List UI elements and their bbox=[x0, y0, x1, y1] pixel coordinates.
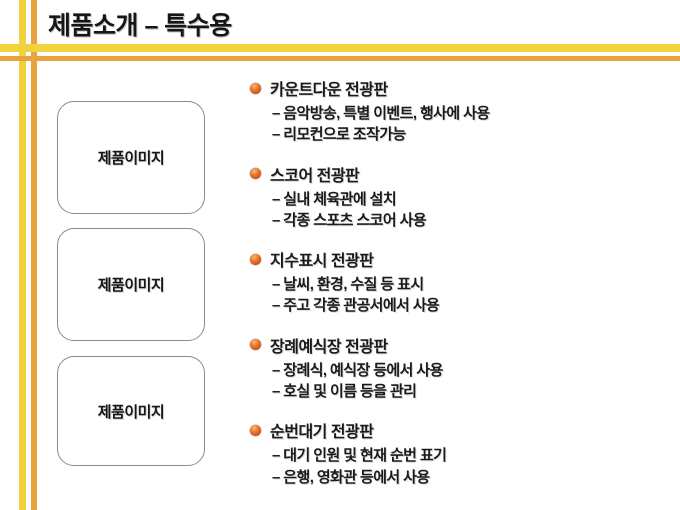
sphere-bullet-icon bbox=[250, 168, 261, 179]
feature-detail: – 리모컨으로 조작가능 bbox=[272, 124, 670, 145]
feature-heading-row: 지수표시 전광판 bbox=[250, 247, 670, 271]
feature-heading: 장례예식장 전광판 bbox=[270, 333, 388, 357]
page-title: 제품소개 – 특수용 bbox=[48, 6, 232, 42]
feature-heading-row: 순번대기 전광판 bbox=[250, 418, 670, 442]
left-vertical-rule-yellow bbox=[19, 0, 26, 510]
feature-detail: – 음악방송, 특별 이벤트, 행사에 사용 bbox=[272, 103, 670, 124]
sphere-bullet-icon bbox=[250, 83, 261, 94]
feature-group: 지수표시 전광판 – 날씨, 환경, 수질 등 표시 – 주고 각종 관공서에서… bbox=[250, 247, 670, 317]
feature-detail: – 날씨, 환경, 수질 등 표시 bbox=[272, 274, 670, 295]
feature-heading: 지수표시 전광판 bbox=[270, 247, 374, 271]
sphere-bullet-icon bbox=[250, 339, 261, 350]
header-horizontal-rule-orange bbox=[0, 56, 680, 61]
sphere-bullet-icon bbox=[250, 425, 261, 436]
sphere-bullet-icon bbox=[250, 254, 261, 265]
feature-detail: – 각종 스포츠 스코어 사용 bbox=[272, 210, 670, 231]
feature-heading: 순번대기 전광판 bbox=[270, 418, 374, 442]
feature-detail: – 대기 인원 및 현재 순번 표기 bbox=[272, 445, 670, 466]
feature-heading-row: 스코어 전광판 bbox=[250, 162, 670, 186]
product-image-placeholder-1: 제품이미지 bbox=[57, 101, 205, 214]
feature-detail: – 실내 체육관에 설치 bbox=[272, 189, 670, 210]
product-image-placeholder-3: 제품이미지 bbox=[57, 356, 205, 466]
product-image-placeholder-label: 제품이미지 bbox=[98, 401, 165, 422]
feature-group: 카운트다운 전광판 – 음악방송, 특별 이벤트, 행사에 사용 – 리모컨으로… bbox=[250, 76, 670, 146]
feature-detail: – 호실 및 이름 등을 관리 bbox=[272, 381, 670, 402]
feature-detail: – 장례식, 예식장 등에서 사용 bbox=[272, 360, 670, 381]
feature-heading: 스코어 전광판 bbox=[270, 162, 359, 186]
product-image-placeholder-label: 제품이미지 bbox=[98, 274, 165, 295]
feature-list: 카운트다운 전광판 – 음악방송, 특별 이벤트, 행사에 사용 – 리모컨으로… bbox=[250, 76, 670, 488]
product-image-placeholder-label: 제품이미지 bbox=[98, 147, 165, 168]
feature-group: 장례예식장 전광판 – 장례식, 예식장 등에서 사용 – 호실 및 이름 등을… bbox=[250, 333, 670, 403]
feature-heading-row: 장례예식장 전광판 bbox=[250, 333, 670, 357]
feature-heading-row: 카운트다운 전광판 bbox=[250, 76, 670, 100]
slide-canvas: 제품소개 – 특수용 제품이미지 제품이미지 제품이미지 카운트다운 전광판 –… bbox=[0, 0, 680, 510]
feature-group: 스코어 전광판 – 실내 체육관에 설치 – 각종 스포츠 스코어 사용 bbox=[250, 162, 670, 232]
feature-detail: – 은행, 영화관 등에서 사용 bbox=[272, 467, 670, 488]
feature-heading: 카운트다운 전광판 bbox=[270, 76, 388, 100]
feature-detail: – 주고 각종 관공서에서 사용 bbox=[272, 295, 670, 316]
product-image-placeholder-2: 제품이미지 bbox=[57, 228, 205, 341]
left-vertical-rule-orange bbox=[31, 0, 37, 510]
feature-group: 순번대기 전광판 – 대기 인원 및 현재 순번 표기 – 은행, 영화관 등에… bbox=[250, 418, 670, 488]
header-horizontal-rule-yellow bbox=[0, 44, 680, 52]
